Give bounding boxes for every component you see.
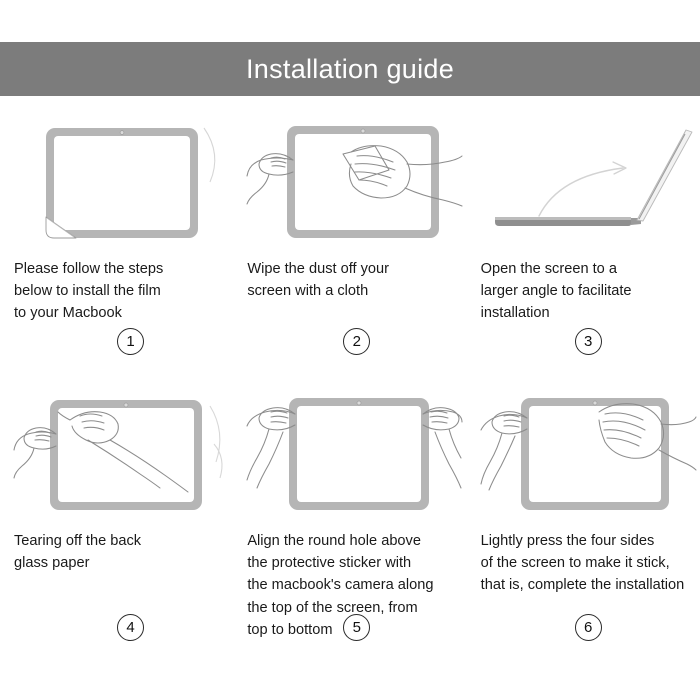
hand-wiping-screen-with-cloth-icon xyxy=(247,120,462,242)
step-3-caption: Open the screen to a larger angle to fac… xyxy=(481,258,686,325)
two-hands-aligning-film-icon xyxy=(247,392,462,514)
step-card-6: Lightly press the four sides of the scre… xyxy=(467,382,700,670)
step-card-1: Please follow the steps below to install… xyxy=(0,110,233,382)
step-4-number-badge: 4 xyxy=(117,614,144,641)
laptop-opening-angle-icon xyxy=(481,120,696,242)
step-3-illustration xyxy=(481,120,686,242)
step-6-caption: Lightly press the four sides of the scre… xyxy=(481,530,686,597)
hand-peeling-backing-icon xyxy=(14,392,224,514)
step-1-caption: Please follow the steps below to install… xyxy=(14,258,219,325)
step-card-2: Wipe the dust off your screen with a clo… xyxy=(233,110,466,382)
step-4-illustration xyxy=(14,392,219,514)
step-6-illustration xyxy=(481,392,686,514)
step-6-number-badge: 6 xyxy=(575,614,602,641)
step-card-4: Tearing off the back glass paper 4 xyxy=(0,382,233,670)
step-3-number-badge: 3 xyxy=(575,328,602,355)
page-title: Installation guide xyxy=(246,56,454,83)
hand-pressing-screen-edges-icon xyxy=(481,392,696,514)
header-banner: Installation guide xyxy=(0,42,700,96)
step-5-illustration xyxy=(247,392,452,514)
step-4-caption: Tearing off the back glass paper xyxy=(14,530,219,574)
step-1-illustration xyxy=(14,120,219,242)
step-1-number-badge: 1 xyxy=(117,328,144,355)
step-card-3: Open the screen to a larger angle to fac… xyxy=(467,110,700,382)
step-card-5: Align the round hole above the protectiv… xyxy=(233,382,466,670)
step-2-number-badge: 2 xyxy=(343,328,370,355)
step-2-caption: Wipe the dust off your screen with a clo… xyxy=(247,258,452,302)
screen-with-peeling-corner-icon xyxy=(14,120,224,242)
step-2-illustration xyxy=(247,120,452,242)
installation-guide-page: Installation guide Please follow the ste… xyxy=(0,0,700,700)
steps-grid: Please follow the steps below to install… xyxy=(0,110,700,670)
